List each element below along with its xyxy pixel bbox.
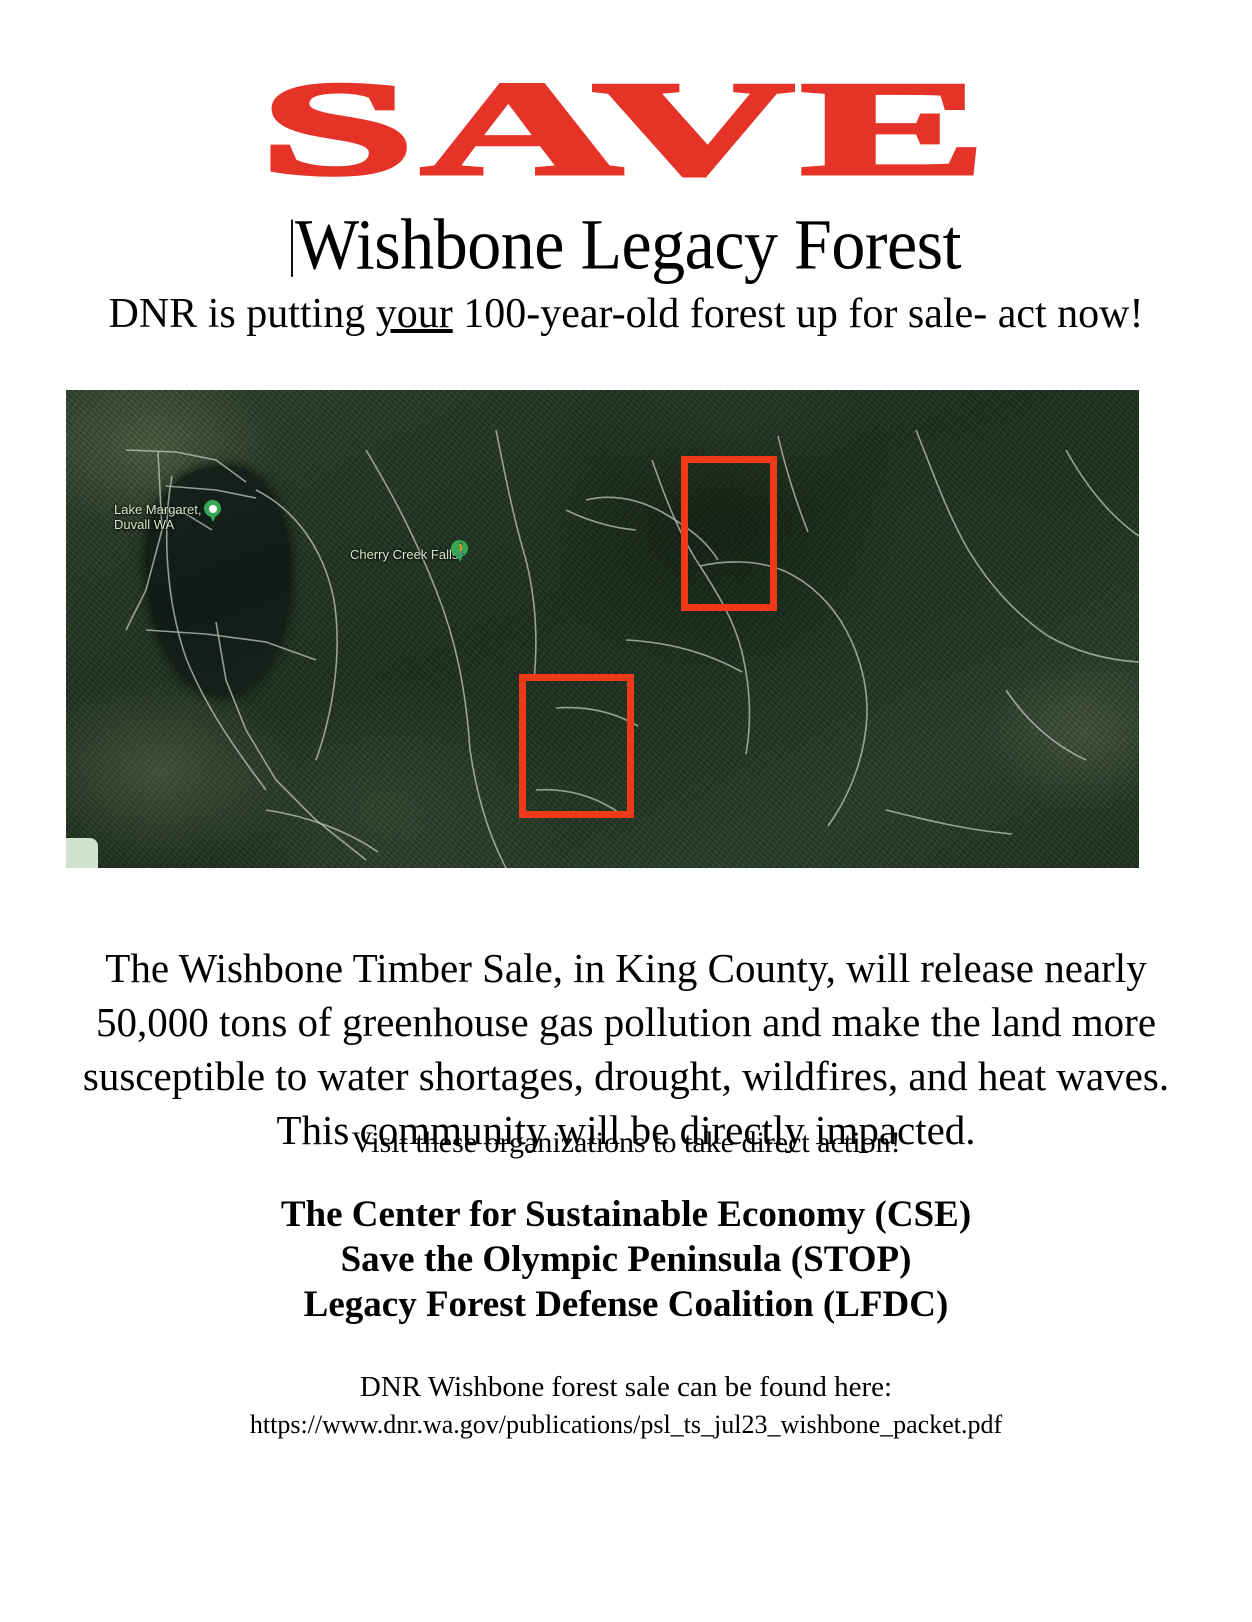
source-block: DNR Wishbone forest sale can be found he… [0, 1368, 1252, 1442]
save-headline-text: SAVE [259, 62, 992, 196]
text-cursor-caret [291, 220, 293, 277]
map-label-cherry-creek-falls: Cherry Creek Falls [350, 547, 458, 562]
hiking-trail-pin-icon[interactable]: 🚶 [451, 540, 468, 563]
map-label-lake-margaret: Lake Margaret, Duvall WA [114, 502, 201, 533]
sale-area-north-outline [681, 456, 777, 611]
map-pin-icon[interactable] [204, 500, 221, 523]
flyer-page: SAVE Wishbone Legacy Forest DNR is putti… [0, 0, 1252, 1622]
subtitle-emphasis: your [376, 291, 453, 337]
subtitle-after: 100-year-old forest up for sale- act now… [453, 291, 1144, 337]
page-subtitle: DNR is putting your 100-year-old forest … [0, 292, 1252, 336]
call-to-action-text: Visit these organizations to take direct… [0, 1126, 1252, 1160]
organizations-list: The Center for Sustainable Economy (CSE)… [0, 1192, 1252, 1327]
organization-item[interactable]: The Center for Sustainable Economy (CSE) [0, 1192, 1252, 1237]
page-title-text: Wishbone Legacy Forest [295, 204, 961, 285]
satellite-map-image: Lake Margaret, Duvall WA Cherry Creek Fa… [66, 390, 1139, 868]
source-label: DNR Wishbone forest sale can be found he… [0, 1368, 1252, 1407]
subtitle-before: DNR is putting [109, 291, 376, 337]
sale-area-south-outline [519, 674, 634, 818]
hiker-glyph: 🚶 [454, 543, 465, 555]
source-url-link[interactable]: https://www.dnr.wa.gov/publications/psl_… [0, 1407, 1252, 1442]
page-title: Wishbone Legacy Forest [0, 208, 1252, 280]
organization-item[interactable]: Legacy Forest Defense Coalition (LFDC) [0, 1282, 1252, 1327]
map-attribution-card [66, 838, 98, 868]
pin-center-dot [209, 505, 217, 513]
organization-item[interactable]: Save the Olympic Peninsula (STOP) [0, 1237, 1252, 1282]
body-paragraph: The Wishbone Timber Sale, in King County… [60, 941, 1192, 1157]
